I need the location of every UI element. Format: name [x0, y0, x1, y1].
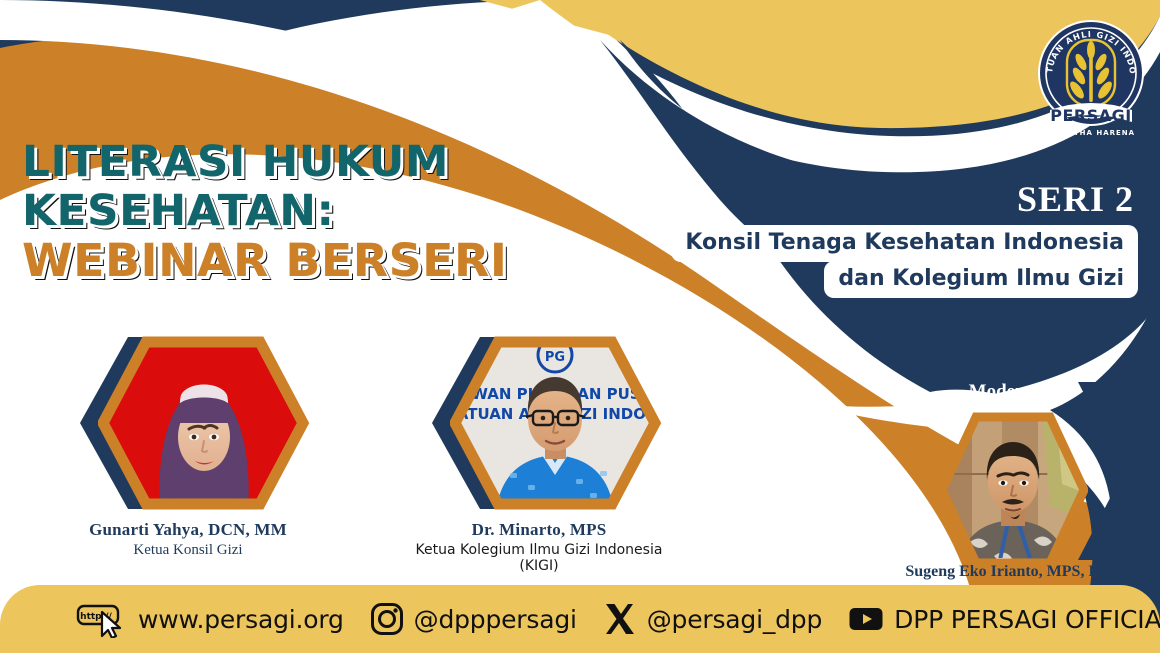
footer-x-label: @persagi_dpp [647, 605, 822, 634]
speaker-1-name: Gunarti Yahya, DCN, MM [73, 520, 303, 540]
speaker-photo-2-wrapper: DEWAN PIMPINAN PUSAT PERSATUAN AHLI GIZI… [432, 333, 647, 513]
speaker-card-2: DEWAN PIMPINAN PUSAT PERSATUAN AHLI GIZI… [432, 333, 674, 574]
svg-text:PG: PG [545, 350, 565, 365]
series-label: SERI 2 [1017, 178, 1134, 220]
page-title: LITERASI HUKUM KESEHATAN: WEBINAR BERSER… [22, 138, 582, 285]
footer-website-label: www.persagi.org [138, 605, 344, 634]
speaker-2-name: Dr. Minarto, MPS [404, 520, 674, 540]
persagi-logo: PERSATUAN AHLI GIZI INDONESIA PERSAGI SW… [1036, 18, 1146, 140]
x-twitter-icon [603, 602, 637, 636]
subtitle: Konsil Tenaga Kesehatan Indonesia dan Ko… [671, 225, 1138, 298]
website-cursor-icon: http:// [76, 600, 128, 638]
subtitle-line-2: dan Kolegium Ilmu Gizi [824, 261, 1138, 298]
moderator-name: Sugeng Eko Irianto, MPS, Ph.D [868, 563, 1160, 581]
speaker-1-caption: Gunarti Yahya, DCN, MM Ketua Konsil Gizi [73, 520, 303, 559]
speaker-photo-1-wrapper [80, 333, 295, 513]
webinar-poster: PERSATUAN AHLI GIZI INDONESIA PERSAGI SW… [0, 0, 1160, 653]
footer-item-x[interactable]: @persagi_dpp [603, 602, 822, 636]
subtitle-line-1: Konsil Tenaga Kesehatan Indonesia [671, 225, 1138, 262]
footer-item-youtube[interactable]: DPP PERSAGI OFFICIAL [848, 605, 1160, 634]
speaker-1-role: Ketua Konsil Gizi [73, 542, 303, 559]
speaker-2-caption: Dr. Minarto, MPS Ketua Kolegium Ilmu Giz… [404, 520, 674, 574]
moderator-photo [938, 410, 1088, 570]
title-line-1: LITERASI HUKUM [22, 138, 593, 187]
footer-youtube-label: DPP PERSAGI OFFICIAL [894, 605, 1160, 634]
instagram-icon [370, 602, 404, 636]
speaker-photo-1 [98, 333, 313, 513]
youtube-icon [848, 605, 884, 633]
title-line-3: WEBINAR BERSERI [22, 236, 593, 285]
moderator-card [938, 410, 1088, 570]
logo-motto-text: SWASTHA HARENA [1047, 129, 1135, 137]
footer-instagram-label: @dpppersagi [414, 605, 577, 634]
speaker-card-1: Gunarti Yahya, DCN, MM Ketua Konsil Gizi [80, 333, 303, 559]
logo-banner-text: PERSAGI [1050, 106, 1131, 125]
footer-bar: http:// www.persagi.org @dpppersagi [0, 585, 1160, 653]
footer-item-website[interactable]: http:// www.persagi.org [76, 600, 344, 638]
footer-item-instagram[interactable]: @dpppersagi [370, 602, 577, 636]
moderator-photo-wrapper [938, 410, 1088, 570]
speaker-photo-2: DEWAN PIMPINAN PUSAT PERSATUAN AHLI GIZI… [450, 333, 665, 513]
title-line-2: KESEHATAN: [22, 187, 593, 236]
moderator-label: Moderator [938, 381, 1088, 403]
speaker-2-role: Ketua Kolegium Ilmu Gizi Indonesia (KIGI… [404, 542, 674, 574]
